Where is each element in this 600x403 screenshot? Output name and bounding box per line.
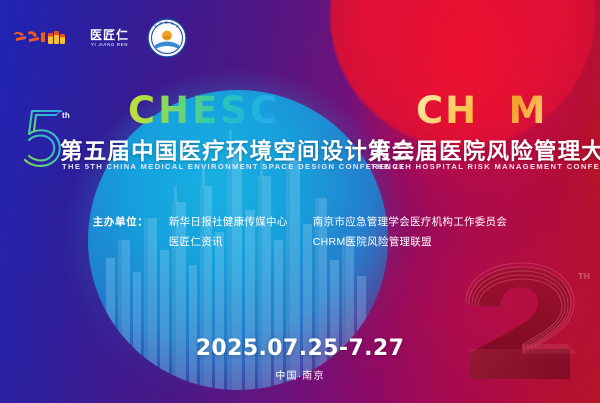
edition-suffix-th: th [62,111,70,120]
chrm-acronym-part1: CH [416,89,478,132]
conference-titles: th CHESC 第五届中国医疗环境空间设计大会 THE 5TH CHINA M… [0,86,600,196]
svg-text:医: 医 [165,21,168,25]
xinhua-logo-icon [12,27,72,49]
organizers-section: 主办单位： 新华日报社健康传媒中心 医匠仁资讯 南京市应急管理学会医疗机构工作委… [0,212,600,252]
chrm-acronym-reversed-r: R [478,92,509,129]
yijiangren-logo-en: YI JIANG REN [91,43,128,48]
chrm-title-block: CHRM 第二届医院风险管理大会 THE 2TH HOSPITAL RISK M… [358,86,600,196]
event-date: 2025.07.25-7.27 [0,336,600,361]
svg-text:协: 协 [176,24,179,28]
chrm-title-en: THE 2TH HOSPITAL RISK MANAGEMENT CONFERE… [371,162,600,171]
chrm-acronym-part3: M [509,89,548,132]
sponsor-logo-bar: 医匠仁 YI JIANG REN 中国 医院 协 [12,18,187,58]
organizer-item: 医匠仁资讯 [169,232,313,252]
yijiangren-logo: 医匠仁 YI JIANG REN [90,29,129,48]
organizer-item: 南京市应急管理学会医疗机构工作委员会 [313,212,507,232]
organizer-item: CHRM医院风险管理联盟 [313,232,507,252]
event-date-block: 2025.07.25-7.27 中国·南京 [0,336,600,382]
svg-text:TH: TH [578,272,590,281]
chesc-title-block: th CHESC 第五届中国医疗环境空间设计大会 THE 5TH CHINA M… [0,86,358,196]
chrm-acronym: CHRM [416,92,547,129]
organizer-item: 新华日报社健康传媒中心 [169,212,313,232]
svg-text:中: 中 [154,24,157,28]
svg-text:国: 国 [159,22,162,26]
event-location: 中国·南京 [0,367,600,382]
organizers-label: 主办单位： [93,212,169,232]
conference-poster: TH [0,0,600,403]
chesc-title-en: THE 5TH CHINA MEDICAL ENVIRONMENT SPACE … [62,162,405,171]
yijiangren-logo-cn: 医匠仁 [90,29,129,41]
xinhua-daily-logo [12,27,72,49]
organizers-column-left: 新华日报社健康传媒中心 医匠仁资讯 [169,212,313,252]
organizers-column-right: 南京市应急管理学会医疗机构工作委员会 CHRM医院风险管理联盟 [313,212,507,252]
association-emblem-logo: 中国 医院 协 [147,18,187,58]
chesc-acronym: CHESC [128,92,280,129]
svg-text:院: 院 [171,22,174,26]
